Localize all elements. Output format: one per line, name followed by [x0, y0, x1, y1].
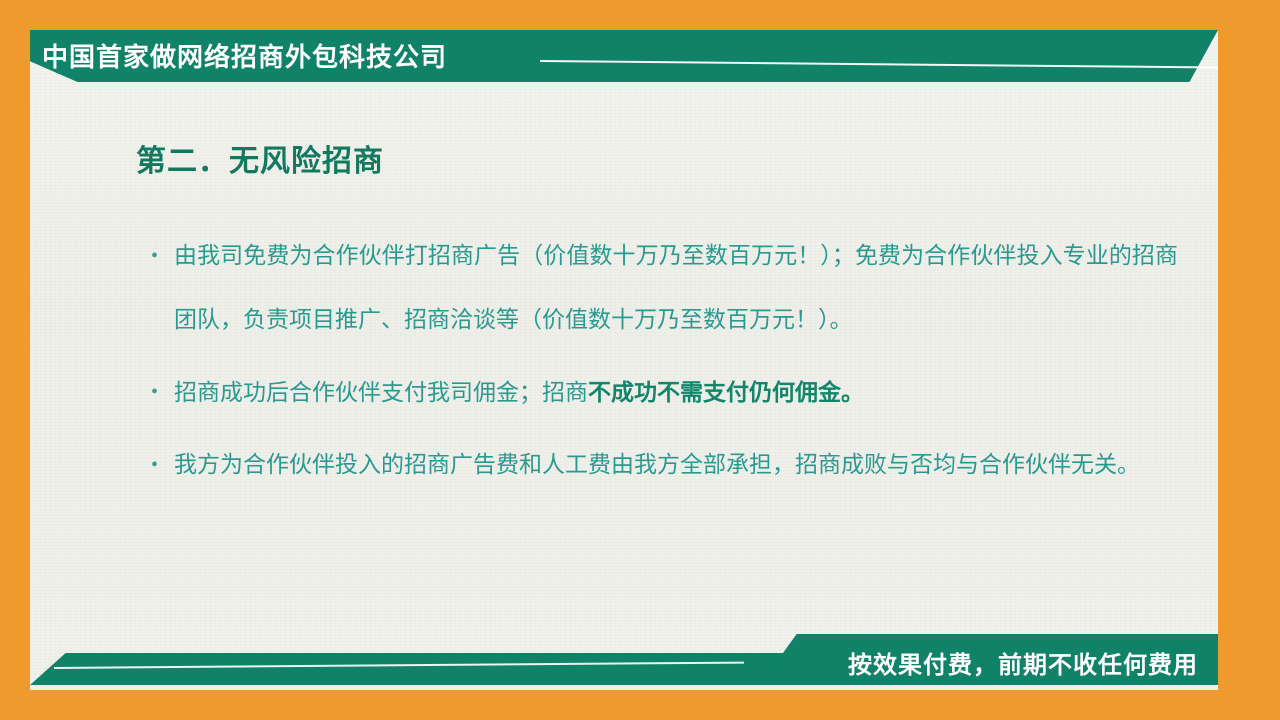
- page-title: 第二．无风险招商: [136, 136, 384, 180]
- list-item: • 招商成功后合作伙伴支付我司佣金；招商不成功不需支付仍何佣金。: [148, 360, 1178, 425]
- list-item-emphasis: 不成功不需支付仍何佣金。: [588, 379, 864, 405]
- footer-tagline: 按效果付费，前期不收任何费用: [848, 645, 1198, 680]
- bullet-dot-icon: •: [151, 433, 165, 497]
- list-item-text: 招商成功后合作伙伴支付我司佣金；招商: [174, 380, 588, 405]
- bullet-list: • 由我司免费为合作伙伴打招商广告（价值数十万乃至数百万元！）；免费为合作伙伴投…: [148, 224, 1178, 505]
- list-item: • 我方为合作伙伴投入的招商广告费和人工费由我方全部承担，招商成败与否均与合作伙…: [148, 433, 1178, 497]
- list-item-text: 我方为合作伙伴投入的招商广告费和人工费由我方全部承担，招商成败与否均与合作伙伴无…: [174, 452, 1140, 477]
- bullet-dot-icon: •: [151, 224, 165, 288]
- header-title: 中国首家做网络招商外包科技公司: [42, 37, 447, 74]
- bullet-dot-icon: •: [151, 360, 165, 424]
- slide: 中国首家做网络招商外包科技公司 第二．无风险招商 • 由我司免费为合作伙伴打招商…: [0, 0, 1280, 720]
- list-item-text: 由我司免费为合作伙伴打招商广告（价值数十万乃至数百万元！）；免费为合作伙伴投入专…: [174, 243, 1178, 332]
- list-item: • 由我司免费为合作伙伴打招商广告（价值数十万乃至数百万元！）；免费为合作伙伴投…: [148, 224, 1178, 352]
